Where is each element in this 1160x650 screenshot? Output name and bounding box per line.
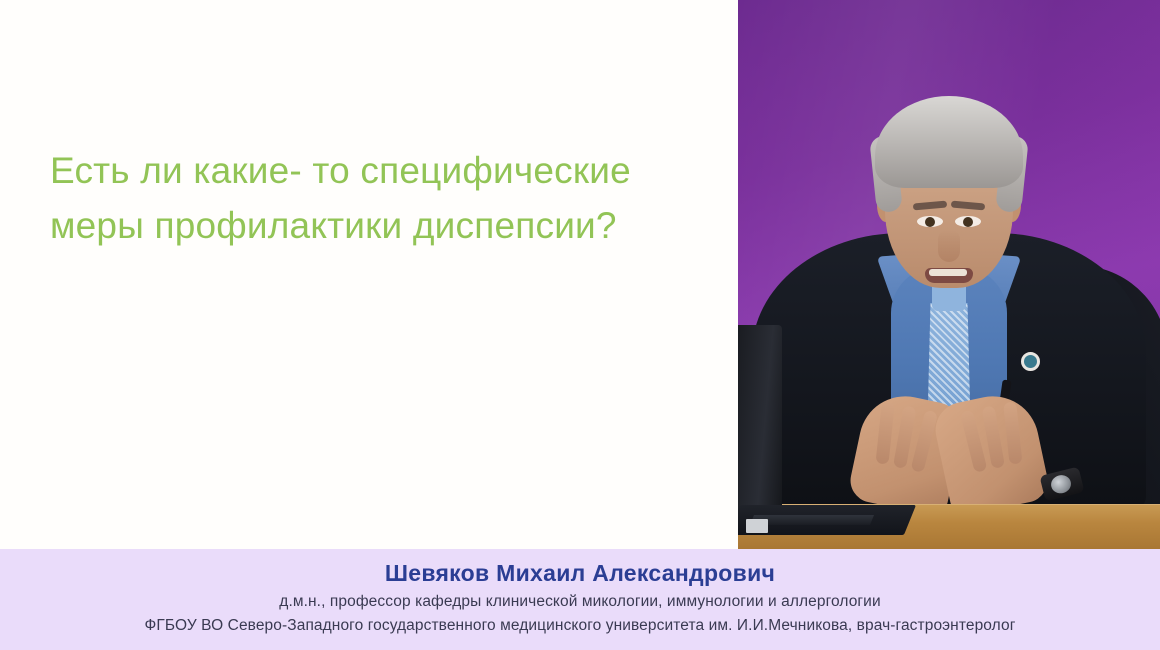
laptop-keyboard bbox=[750, 515, 874, 525]
teeth bbox=[929, 269, 967, 276]
question-text-block: Есть ли какие- то специфические меры про… bbox=[50, 143, 720, 253]
question-line-2: меры профилактики диспепсии? bbox=[50, 198, 720, 253]
laptop-screen bbox=[738, 325, 782, 515]
video-feed-panel[interactable] bbox=[738, 0, 1160, 549]
hand-right bbox=[930, 388, 1051, 518]
finger bbox=[910, 410, 938, 473]
eye-left bbox=[917, 216, 943, 227]
laptop-foot bbox=[746, 519, 768, 533]
nose bbox=[938, 230, 960, 262]
eye-right bbox=[955, 216, 981, 227]
question-line-1: Есть ли какие- то специфические bbox=[50, 143, 720, 198]
lapel-pin-icon bbox=[1021, 352, 1040, 371]
eyebrow-right bbox=[951, 201, 985, 211]
pupil-right bbox=[963, 217, 973, 227]
slide-content-area: Есть ли какие- то специфические меры про… bbox=[0, 0, 738, 550]
watch-face bbox=[1049, 473, 1073, 495]
speaker-credential-line-2: ФГБОУ ВО Северо-Западного государственно… bbox=[0, 614, 1160, 638]
finger bbox=[1003, 402, 1022, 465]
gray-hair bbox=[875, 96, 1023, 188]
steepled-hands bbox=[857, 391, 1041, 509]
mouth bbox=[925, 268, 973, 283]
eyebrow-left bbox=[913, 201, 947, 211]
pupil-left bbox=[925, 217, 935, 227]
speaker-caption-bar: Шевяков Михаил Александрович д.м.н., про… bbox=[0, 549, 1160, 650]
speaker-head bbox=[871, 96, 1027, 292]
speaker-credential-line-1: д.м.н., профессор кафедры клинической ми… bbox=[0, 590, 1160, 614]
speaker-name: Шевяков Михаил Александрович bbox=[0, 559, 1160, 588]
finger bbox=[875, 402, 894, 465]
presentation-slide: Есть ли какие- то специфические меры про… bbox=[0, 0, 1160, 650]
